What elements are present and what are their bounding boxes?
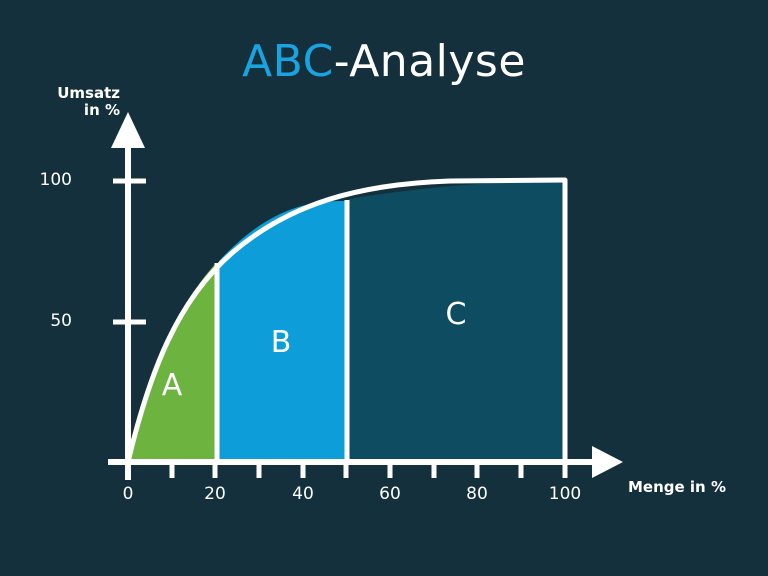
x-tick-label-100: 100 (545, 484, 585, 504)
x-tick-label-60: 60 (370, 484, 410, 504)
x-tick-label-0: 0 (108, 484, 148, 504)
x-tick-label-80: 80 (457, 484, 497, 504)
segment-label-c: C (436, 297, 476, 332)
x-tick-label-20: 20 (195, 484, 235, 504)
x-tick-label-40: 40 (283, 484, 323, 504)
segment-area-a (128, 264, 215, 462)
y-tick-label-100: 100 (12, 170, 72, 190)
y-axis-arrow-icon (111, 112, 145, 148)
segment-label-b: B (261, 325, 301, 360)
y-tick-label-50: 50 (12, 311, 72, 331)
x-axis-arrow-icon (592, 446, 623, 478)
segment-label-a: A (152, 368, 192, 403)
chart-canvas: ABC-Analyse Umsatz in % Menge in % (0, 0, 768, 576)
